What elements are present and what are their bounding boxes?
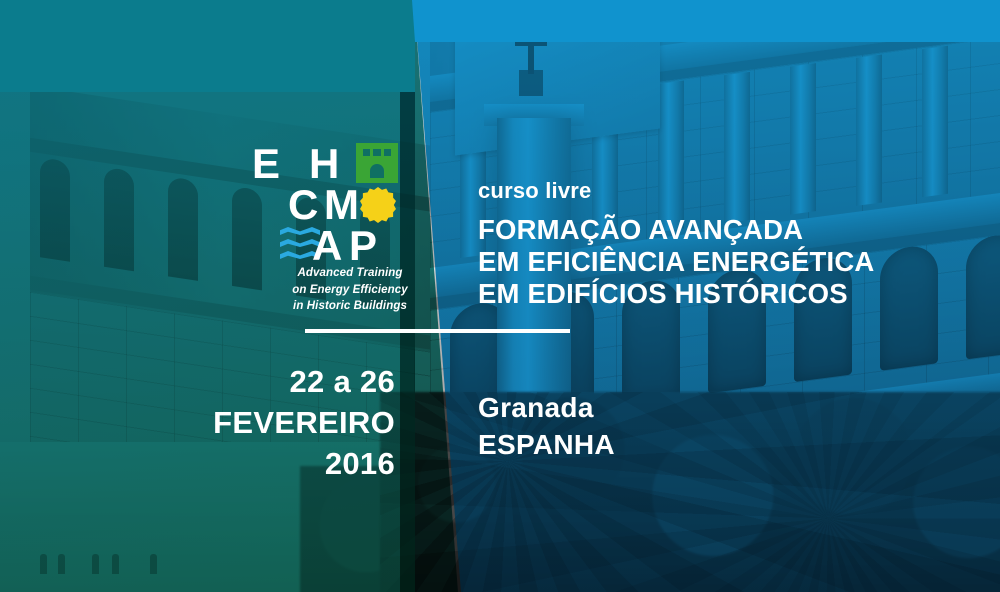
logo-tagline-line3: in Historic Buildings xyxy=(280,298,420,315)
date-line1: 22 a 26 xyxy=(0,362,395,403)
logo-letter-p: P xyxy=(349,225,376,267)
logo-letter-e: E xyxy=(252,143,279,185)
logo-letter-h: H xyxy=(309,143,338,185)
event-poster: E H C M A P Advanced Training on Energy … xyxy=(0,0,1000,592)
headline-line2: EM EFICIÊNCIA ENERGÉTICA xyxy=(478,246,874,278)
ehcm-ap-logo: E H C M A P Advanced Training on Energy … xyxy=(252,143,412,261)
course-type-kicker: curso livre xyxy=(478,178,591,204)
location-city: Granada xyxy=(478,390,615,427)
headline-line3: EM EDIFÍCIOS HISTÓRICOS xyxy=(478,278,874,310)
headline-line1: FORMAÇÃO AVANÇADA xyxy=(478,214,874,246)
logo-letter-c: C xyxy=(288,184,317,226)
logo-letter-a: A xyxy=(312,225,341,267)
horizontal-divider xyxy=(305,329,570,333)
event-dates: 22 a 26 FEVEREIRO 2016 xyxy=(0,362,395,485)
logo-tagline-line2: on Energy Efficiency xyxy=(280,282,420,299)
poster-headline: FORMAÇÃO AVANÇADA EM EFICIÊNCIA ENERGÉTI… xyxy=(478,214,874,311)
event-location: Granada ESPANHA xyxy=(478,390,615,464)
poster-content: E H C M A P Advanced Training on Energy … xyxy=(0,0,1000,592)
logo-tagline: Advanced Training on Energy Efficiency i… xyxy=(280,265,420,315)
sun-icon xyxy=(360,187,396,223)
date-line3: 2016 xyxy=(0,444,395,485)
location-country: ESPANHA xyxy=(478,427,615,464)
date-line2: FEVEREIRO xyxy=(0,403,395,444)
castle-icon xyxy=(356,143,398,183)
logo-letter-m: M xyxy=(324,184,358,226)
logo-tagline-line1: Advanced Training xyxy=(280,265,420,282)
logo-letter-grid: E H C M A P xyxy=(252,143,408,261)
